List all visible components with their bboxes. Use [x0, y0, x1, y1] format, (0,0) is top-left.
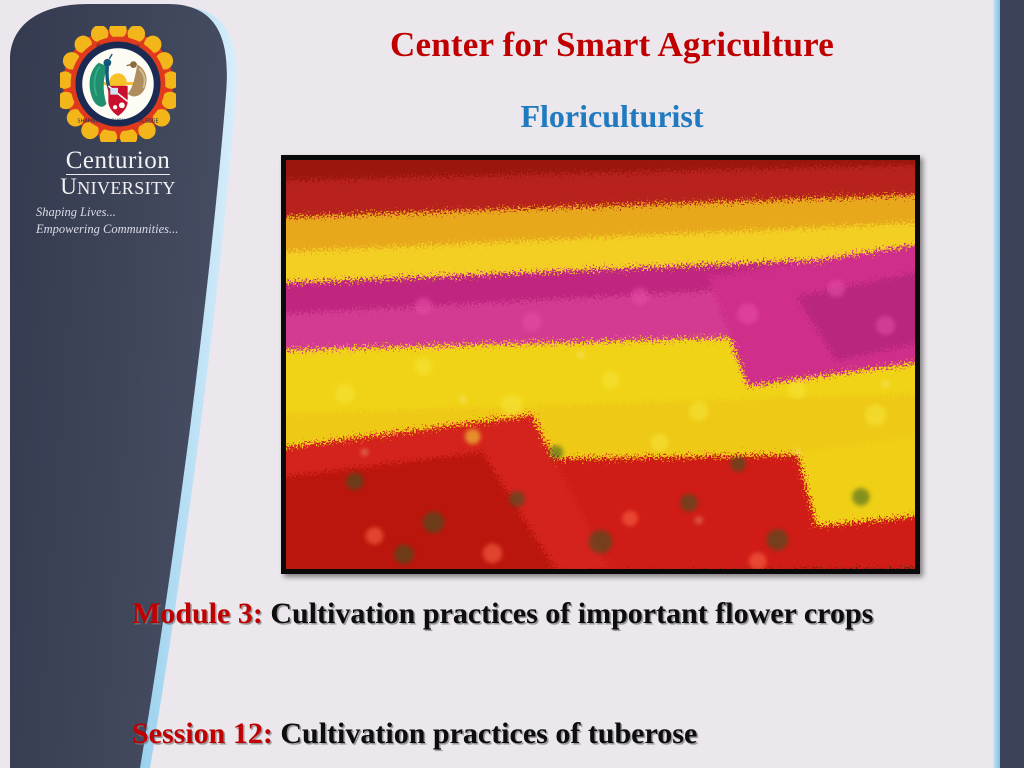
- tagline-line-2: Empowering Communities...: [36, 221, 218, 238]
- session-tag: Session 12:: [132, 717, 273, 750]
- right-blue-stripe: [993, 0, 1000, 768]
- module-tag: Module 3:: [132, 597, 263, 630]
- university-name-line1: Centurion: [66, 148, 171, 175]
- page-title: Center for Smart Agriculture: [232, 25, 992, 65]
- right-navy-band: [1000, 0, 1024, 768]
- university-tagline: Shaping Lives... Empowering Communities.…: [18, 204, 218, 238]
- svg-text:सेंचुरियन विश्वविद्यालय: सेंचुरियन विश्वविद्यालय: [96, 43, 140, 50]
- svg-text:SHAPING THROUGH KNOWLEDGE: SHAPING THROUGH KNOWLEDGE: [78, 119, 159, 125]
- session-text: Cultivation practices of tuberose: [280, 717, 697, 750]
- university-branding: सेंचुरियन विश्वविद्यालय: [18, 26, 218, 238]
- university-name-line2: UNIVERSITY: [18, 175, 218, 199]
- module-paragraph: Module 3: Cultivation practices of impor…: [132, 588, 984, 640]
- module-text: Cultivation practices of important flowe…: [270, 597, 873, 630]
- university-name-line2-cap: U: [60, 174, 77, 199]
- flower-field-photo: [281, 155, 920, 574]
- university-name-line2-rest: NIVERSITY: [77, 178, 176, 198]
- centurion-university-emblem-icon: सेंचुरियन विश्वविद्यालय: [60, 26, 176, 142]
- slide-canvas: सेंचुरियन विश्वविद्यालय: [0, 0, 1024, 768]
- session-paragraph: Session 12: Cultivation practices of tub…: [132, 717, 984, 751]
- page-subtitle: Floriculturist: [232, 98, 992, 135]
- tagline-line-1: Shaping Lives...: [36, 204, 218, 221]
